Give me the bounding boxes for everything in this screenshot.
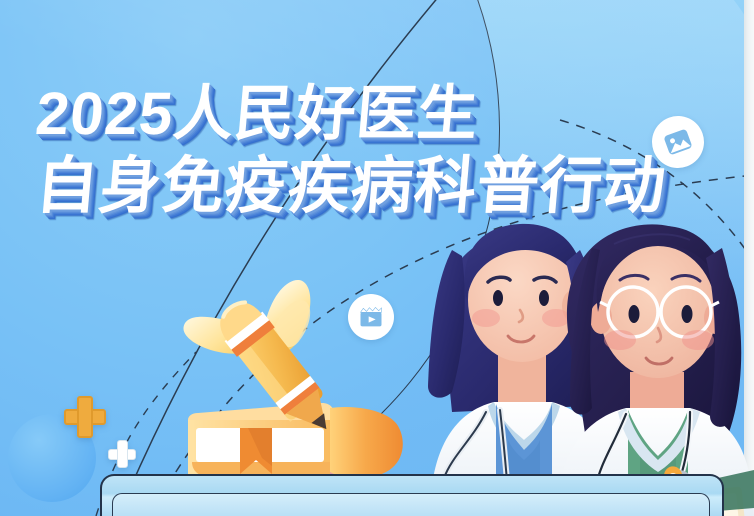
illustration-doctors [0, 0, 754, 516]
doctor-right [556, 224, 754, 516]
desk-counter-lip [112, 493, 710, 516]
poster-banner: 2025人民好医生 自身免疫疾病科普行动 [0, 0, 754, 516]
